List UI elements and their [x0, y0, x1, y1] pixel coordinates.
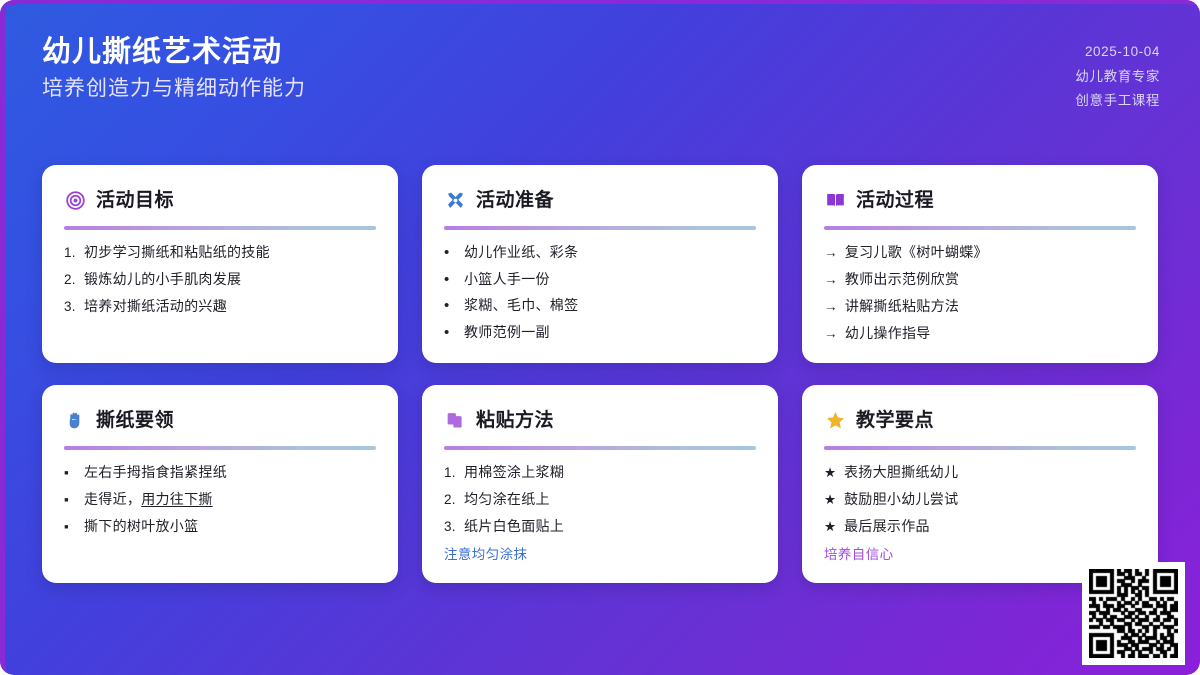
- copy-pages-icon: [444, 409, 466, 431]
- card-teaching-points: 教学要点★表扬大胆撕纸幼儿★鼓励胆小幼儿尝试★最后展示作品培养自信心: [802, 385, 1158, 583]
- list-item-marker: •: [444, 272, 457, 287]
- list-item-text: 教师范例一副: [464, 324, 550, 342]
- list-item: 1.用棉签涂上浆糊: [444, 464, 756, 482]
- list-item: 3.培养对撕纸活动的兴趣: [64, 298, 376, 316]
- list-item-text: 幼儿操作指导: [845, 325, 931, 343]
- list-item-marker: •: [444, 245, 457, 260]
- card-header: 粘贴方法: [444, 405, 756, 435]
- card-divider: [824, 226, 1136, 230]
- list-item-marker: 2.: [64, 272, 77, 289]
- list-item-text-underlined: 用力往下撕: [141, 491, 213, 507]
- list-item: →复习儿歌《树叶蝴蝶》: [824, 244, 1136, 262]
- list-item-text: 讲解撕纸粘贴方法: [845, 298, 959, 316]
- list-item-text: 幼儿作业纸、彩条: [464, 244, 578, 262]
- card-item-list: 1.用棉签涂上浆糊2.均匀涂在纸上3.纸片白色面贴上: [444, 464, 756, 536]
- card-header: 活动目标: [64, 185, 376, 215]
- card-divider: [444, 226, 756, 230]
- list-item: 3.纸片白色面贴上: [444, 518, 756, 536]
- card-activity-goals: 活动目标1.初步学习撕纸和粘贴纸的技能2.锻炼幼儿的小手肌肉发展3.培养对撕纸活…: [42, 165, 398, 363]
- card-item-list: 1.初步学习撕纸和粘贴纸的技能2.锻炼幼儿的小手肌肉发展3.培养对撕纸活动的兴趣: [64, 244, 376, 316]
- card-grid: 活动目标1.初步学习撕纸和粘贴纸的技能2.锻炼幼儿的小手肌肉发展3.培养对撕纸活…: [42, 165, 1158, 583]
- list-item: •小篮人手一份: [444, 271, 756, 289]
- list-item-text: 鼓励胆小幼儿尝试: [844, 491, 958, 509]
- slide-root: 幼儿撕纸艺术活动 培养创造力与精细动作能力 2025-10-04 幼儿教育专家 …: [0, 0, 1200, 675]
- card-header: 活动准备: [444, 185, 756, 215]
- list-item-text: 表扬大胆撕纸幼儿: [844, 464, 958, 482]
- list-item-text: 用棉签涂上浆糊: [464, 464, 564, 482]
- qr-code[interactable]: [1082, 562, 1185, 665]
- list-item-marker: →: [824, 299, 838, 316]
- card-tearing-essentials: 撕纸要领▪左右手拇指食指紧捏纸▪走得近，用力往下撕▪撕下的树叶放小篮: [42, 385, 398, 583]
- card-title: 活动准备: [476, 191, 554, 210]
- open-book-icon: [824, 189, 846, 211]
- list-item: •浆糊、毛巾、棉签: [444, 297, 756, 315]
- qr-code-canvas: [1089, 569, 1178, 658]
- list-item-text: 均匀涂在纸上: [464, 491, 550, 509]
- star-icon: [824, 409, 846, 431]
- list-item-text: 教师出示范例欣赏: [845, 271, 959, 289]
- list-item-text: 初步学习撕纸和粘贴纸的技能: [84, 244, 270, 262]
- list-item: ★鼓励胆小幼儿尝试: [824, 491, 1136, 509]
- card-note: 培养自信心: [824, 547, 1136, 563]
- tools-icon: [444, 189, 466, 211]
- list-item-marker: •: [444, 298, 457, 313]
- card-title: 教学要点: [856, 411, 934, 430]
- list-item-text-plain: 走得近，: [84, 491, 141, 507]
- list-item: 1.初步学习撕纸和粘贴纸的技能: [64, 244, 376, 262]
- list-item: ▪左右手拇指食指紧捏纸: [64, 464, 376, 482]
- list-item-text: 走得近，用力往下撕: [84, 491, 213, 509]
- list-item-text: 撕下的树叶放小篮: [84, 518, 198, 536]
- list-item: →幼儿操作指导: [824, 325, 1136, 343]
- card-activity-process: 活动过程→复习儿歌《树叶蝴蝶》→教师出示范例欣赏→讲解撕纸粘贴方法→幼儿操作指导: [802, 165, 1158, 363]
- target-icon: [64, 189, 86, 211]
- slide-header: 幼儿撕纸艺术活动 培养创造力与精细动作能力 2025-10-04 幼儿教育专家 …: [42, 36, 1160, 111]
- card-divider: [444, 446, 756, 450]
- list-item-marker: ▪: [64, 492, 77, 509]
- list-item-text: 浆糊、毛巾、棉签: [464, 297, 578, 315]
- list-item-text: 纸片白色面贴上: [464, 518, 564, 536]
- list-item: ▪走得近，用力往下撕: [64, 491, 376, 509]
- card-item-list: →复习儿歌《树叶蝴蝶》→教师出示范例欣赏→讲解撕纸粘贴方法→幼儿操作指导: [824, 244, 1136, 343]
- list-item-marker: ★: [824, 465, 837, 482]
- list-item-text: 小篮人手一份: [464, 271, 550, 289]
- card-item-list: •幼儿作业纸、彩条•小篮人手一份•浆糊、毛巾、棉签•教师范例一副: [444, 244, 756, 341]
- list-item: •教师范例一副: [444, 324, 756, 342]
- raised-hand-icon: [64, 409, 86, 431]
- card-item-list: ▪左右手拇指食指紧捏纸▪走得近，用力往下撕▪撕下的树叶放小篮: [64, 464, 376, 536]
- list-item-marker: →: [824, 272, 838, 289]
- card-note: 注意均匀涂抹: [444, 547, 756, 563]
- page-subtitle: 培养创造力与精细动作能力: [42, 76, 306, 101]
- list-item: →讲解撕纸粘贴方法: [824, 298, 1136, 316]
- card-pasting-method: 粘贴方法1.用棉签涂上浆糊2.均匀涂在纸上3.纸片白色面贴上注意均匀涂抹: [422, 385, 778, 583]
- list-item: ★表扬大胆撕纸幼儿: [824, 464, 1136, 482]
- list-item: 2.锻炼幼儿的小手肌肉发展: [64, 271, 376, 289]
- card-header: 教学要点: [824, 405, 1136, 435]
- meta-author: 幼儿教育专家: [1075, 67, 1160, 87]
- list-item: →教师出示范例欣赏: [824, 271, 1136, 289]
- list-item: ★最后展示作品: [824, 518, 1136, 536]
- list-item: ▪撕下的树叶放小篮: [64, 518, 376, 536]
- card-title: 活动目标: [96, 191, 174, 210]
- card-header: 活动过程: [824, 185, 1136, 215]
- card-title: 活动过程: [856, 191, 934, 210]
- list-item-marker: 3.: [64, 299, 77, 316]
- header-left-block: 幼儿撕纸艺术活动 培养创造力与精细动作能力: [42, 36, 306, 102]
- card-divider: [64, 226, 376, 230]
- page-title: 幼儿撕纸艺术活动: [42, 36, 306, 69]
- list-item: 2.均匀涂在纸上: [444, 491, 756, 509]
- list-item-marker: 1.: [64, 245, 77, 262]
- card-divider: [64, 446, 376, 450]
- header-meta-block: 2025-10-04 幼儿教育专家 创意手工课程: [1075, 36, 1160, 111]
- list-item: •幼儿作业纸、彩条: [444, 244, 756, 262]
- card-divider: [824, 446, 1136, 450]
- list-item-marker: →: [824, 326, 838, 343]
- list-item-marker: •: [444, 325, 457, 340]
- list-item-text: 复习儿歌《树叶蝴蝶》: [845, 244, 988, 262]
- list-item-marker: →: [824, 245, 838, 262]
- card-item-list: ★表扬大胆撕纸幼儿★鼓励胆小幼儿尝试★最后展示作品: [824, 464, 1136, 536]
- meta-date: 2025-10-04: [1085, 42, 1160, 62]
- list-item-marker: ★: [824, 492, 837, 509]
- list-item-marker: 2.: [444, 492, 457, 509]
- list-item-marker: ★: [824, 519, 837, 536]
- list-item-text: 培养对撕纸活动的兴趣: [84, 298, 227, 316]
- list-item-text: 锻炼幼儿的小手肌肉发展: [84, 271, 241, 289]
- list-item-marker: ▪: [64, 519, 77, 536]
- card-title: 粘贴方法: [476, 411, 554, 430]
- list-item-marker: ▪: [64, 465, 77, 482]
- meta-course: 创意手工课程: [1075, 91, 1160, 111]
- list-item-text: 最后展示作品: [844, 518, 930, 536]
- list-item-text: 左右手拇指食指紧捏纸: [84, 464, 227, 482]
- card-header: 撕纸要领: [64, 405, 376, 435]
- list-item-marker: 1.: [444, 465, 457, 482]
- card-title: 撕纸要领: [96, 411, 174, 430]
- list-item-marker: 3.: [444, 519, 457, 536]
- card-activity-preparation: 活动准备•幼儿作业纸、彩条•小篮人手一份•浆糊、毛巾、棉签•教师范例一副: [422, 165, 778, 363]
